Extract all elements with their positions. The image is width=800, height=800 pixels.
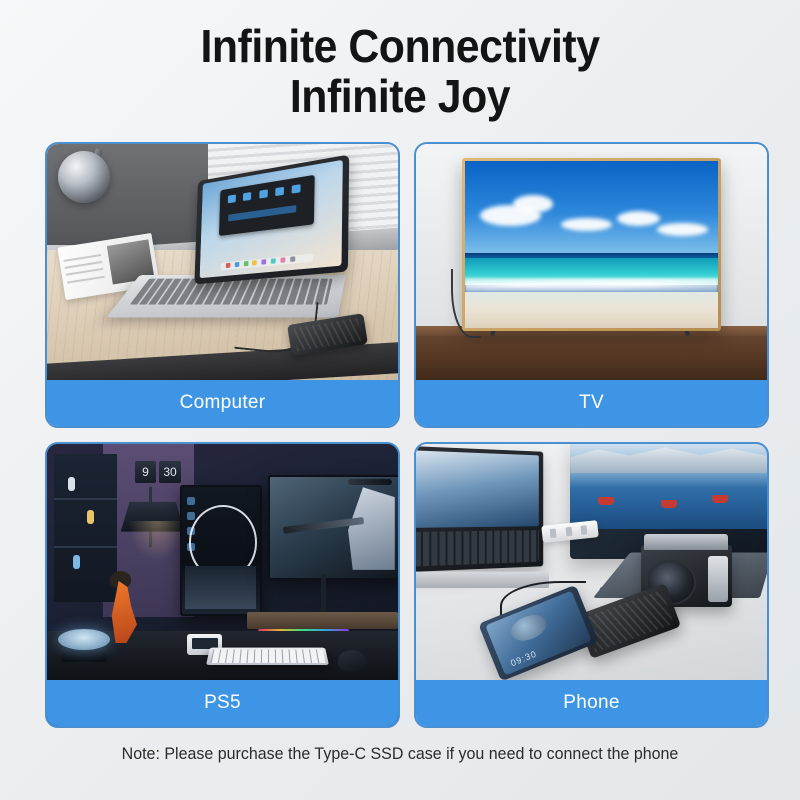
book-textline (67, 276, 105, 284)
file-icon (244, 192, 252, 201)
caption-label: Computer (180, 392, 266, 414)
dock-icon (262, 259, 267, 264)
book-textline (63, 254, 101, 262)
laptop-screen (416, 450, 539, 528)
use-case-card-ps5[interactable]: 9 30 (45, 442, 400, 728)
scene-photo-computer (47, 144, 398, 384)
headline-line-1: Infinite Connectivity (200, 20, 599, 72)
camera-top-plate (644, 534, 728, 550)
file-icon (292, 184, 301, 193)
file-icon (259, 189, 268, 198)
promo-graphic: Infinite Connectivity Infinite Joy (0, 0, 800, 800)
gaming-monitor (268, 475, 398, 580)
file-manager-window (220, 175, 316, 236)
dock-icon (290, 257, 295, 262)
dock-icon (226, 263, 231, 268)
phone-clock: 09:30 (509, 649, 538, 669)
monitor-light-bar (348, 479, 392, 485)
use-case-card-tv[interactable]: TV (414, 142, 769, 428)
card-caption-ps5: PS5 (47, 680, 398, 726)
power-socket (566, 527, 573, 536)
boat (661, 500, 677, 508)
wall-shelf (54, 454, 117, 603)
camera-grip (708, 556, 728, 602)
dock-icon (244, 261, 249, 266)
beach-sand (465, 292, 719, 329)
shelf-divider (54, 546, 117, 548)
macos-dock (221, 253, 314, 270)
laptop-keyboard (416, 529, 539, 566)
selected-file-row (229, 205, 297, 221)
harbor-wallpaper (570, 444, 767, 529)
boat (598, 497, 614, 505)
caption-label: PS5 (204, 692, 241, 714)
dock-icon (253, 260, 258, 265)
desk-riser-shelf (247, 612, 398, 629)
card-caption-tv: TV (416, 380, 767, 426)
laptop-screen (200, 160, 343, 278)
flip-clock: 9 30 (135, 461, 181, 483)
file-icon (228, 194, 236, 203)
laptop (416, 446, 544, 572)
book-textline (66, 268, 104, 276)
figurine (87, 510, 94, 524)
card-caption-phone: Phone (416, 680, 767, 726)
dock-icon (271, 259, 276, 264)
clock-minutes: 30 (159, 461, 181, 483)
dock-icon (281, 258, 286, 263)
vertical-monitor (180, 485, 261, 616)
use-case-grid: Computer (45, 142, 755, 728)
keyboard-keys (211, 650, 326, 663)
book-textline (64, 261, 102, 269)
sidebar-icon (187, 497, 195, 505)
figurine (68, 477, 75, 491)
tv-bezel (462, 158, 722, 331)
clock-hours: 9 (135, 461, 157, 483)
levitating-base (61, 648, 107, 662)
ssd-ribbed-texture (294, 319, 362, 351)
figurine (73, 555, 80, 569)
scene-photo-phone: 09:30 (416, 444, 767, 684)
mouse-icon (338, 650, 366, 672)
snowy-mountain (570, 444, 767, 473)
file-icon (275, 187, 284, 196)
desk-lamp-icon (58, 151, 110, 203)
power-socket (550, 529, 557, 538)
dock-icon (235, 262, 240, 267)
wallpaper-mountains (185, 566, 256, 609)
scene-photo-tv (416, 144, 767, 384)
footnote: Note: Please purchase the Type-C SSD cas… (12, 745, 788, 764)
monitor-stand (321, 574, 326, 612)
page-title: Infinite Connectivity Infinite Joy (28, 22, 772, 121)
power-socket (581, 525, 588, 534)
lamp-glow (128, 521, 186, 561)
use-case-card-computer[interactable]: Computer (45, 142, 400, 428)
phone-camera-module (507, 611, 550, 647)
headline-line-2: Infinite Joy (28, 72, 772, 122)
mechanical-keyboard (206, 648, 329, 666)
caption-label: Phone (563, 692, 619, 714)
tv-screen (465, 161, 719, 328)
boat (712, 495, 728, 503)
scene-photo-ps5: 9 30 (47, 444, 398, 684)
caption-label: TV (579, 392, 604, 414)
sidebar-icon (187, 512, 195, 520)
use-case-card-phone[interactable]: 09:30 Phone (414, 442, 769, 728)
game-character (348, 487, 395, 570)
shelf-divider (54, 498, 117, 500)
card-caption-computer: Computer (47, 380, 398, 426)
